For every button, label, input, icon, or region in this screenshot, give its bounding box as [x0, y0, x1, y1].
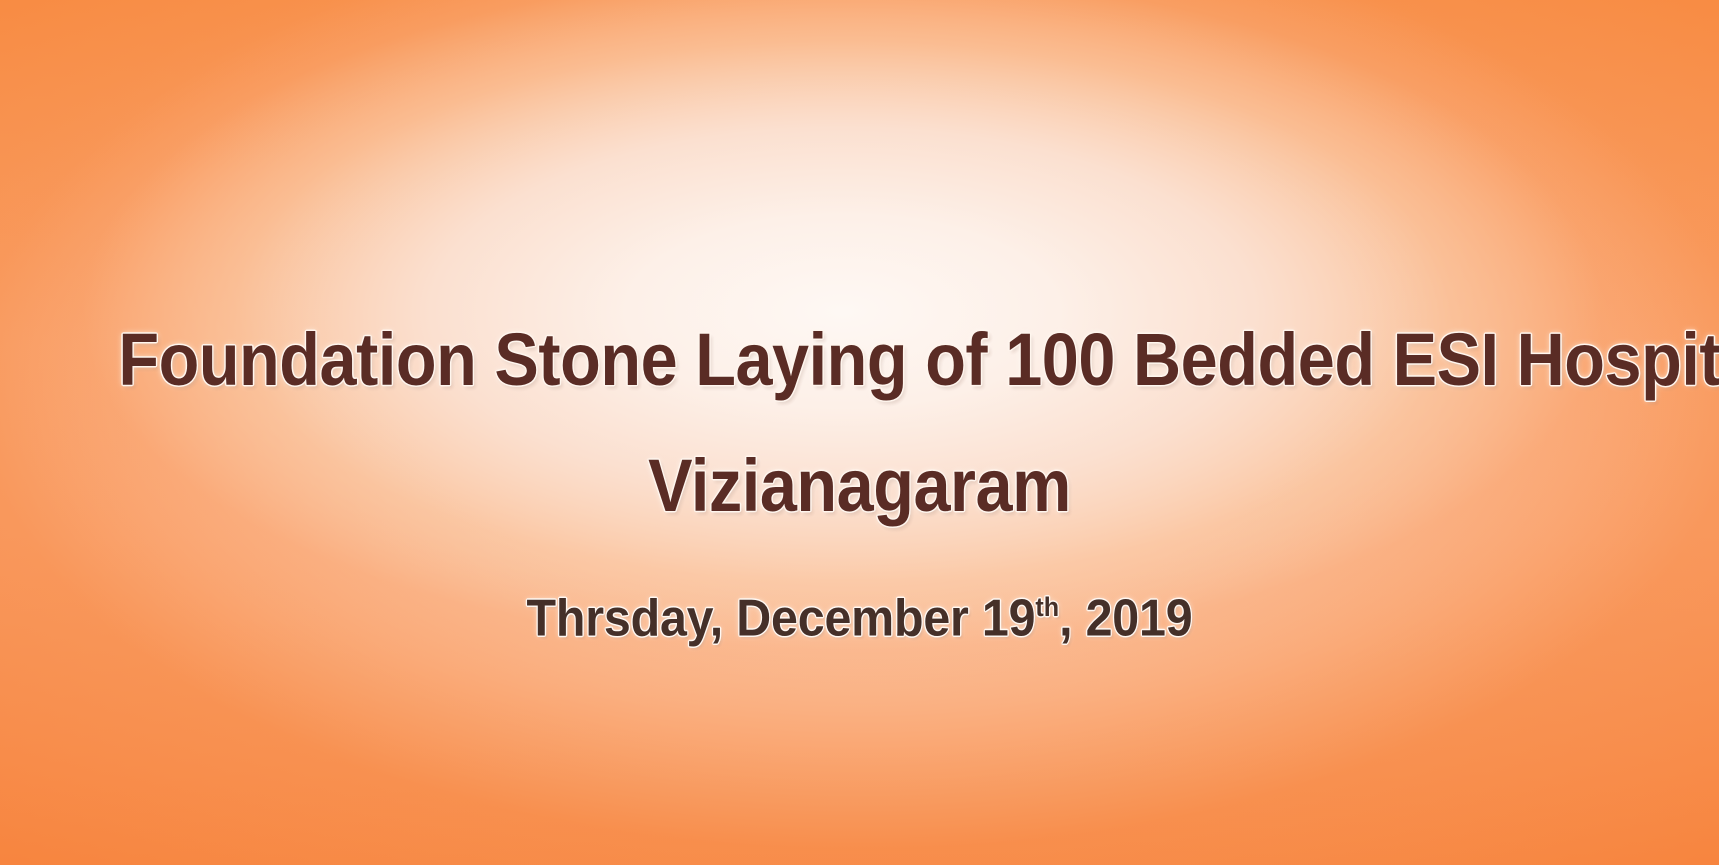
slide-date: Thrsday, December 19th, 2019	[94, 550, 1626, 649]
slide-text-block: Foundation Stone Laying of 100 Bedded ES…	[0, 296, 1719, 649]
slide-title-line-2: Vizianagaram	[118, 422, 1600, 550]
slide-date-prefix: Thrsday, December 19	[527, 589, 1036, 647]
title-slide: Foundation Stone Laying of 100 Bedded ES…	[0, 0, 1719, 865]
slide-title-line-1: Foundation Stone Laying of 100 Bedded ES…	[118, 296, 1600, 424]
slide-date-suffix: , 2019	[1059, 589, 1192, 647]
slide-date-ordinal-suffix: th	[1035, 592, 1059, 622]
